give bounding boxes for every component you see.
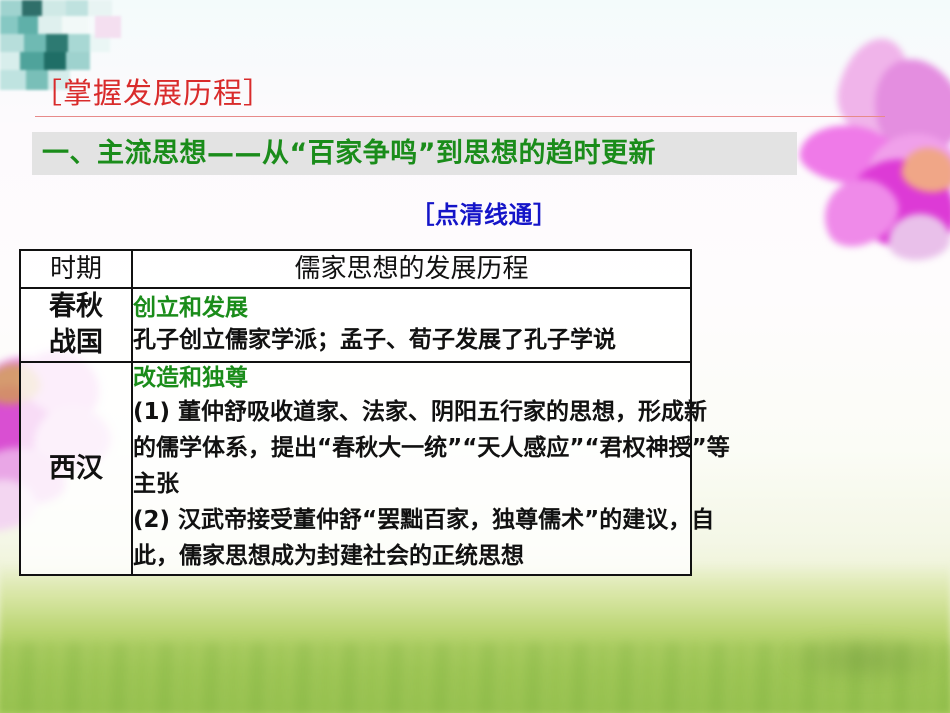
period-cell-western-han: 西汉: [20, 362, 132, 575]
header-development: 儒家思想的发展历程: [132, 250, 691, 288]
section-title: ［掌握发展历程］: [33, 76, 273, 110]
slide-canvas: ［掌握发展历程］ 一、主流思想——从“百家争鸣”到思想的趋时更新 ［点清线通］ …: [0, 0, 950, 713]
subtitle-text: ［点清线通］: [411, 201, 558, 229]
content-lead: 改造和独尊: [133, 363, 690, 394]
subtitle: ［点清线通］: [0, 199, 950, 231]
confucian-development-table: 时期 儒家思想的发展历程 春秋 战国 创立和发展 孔子创立儒家学派；孟子、荀子发…: [19, 249, 692, 576]
table-header-row: 时期 儒家思想的发展历程: [20, 250, 691, 288]
history-table-wrapper: 时期 儒家思想的发展历程 春秋 战国 创立和发展 孔子创立儒家学派；孟子、荀子发…: [19, 249, 692, 576]
period-line: 西汉: [21, 451, 131, 487]
content-line: 孔子创立儒家学派；孟子、荀子发展了孔子学说: [133, 324, 690, 357]
period-cell-spring-autumn: 春秋 战国: [20, 288, 132, 362]
content-line: 的儒学体系，提出“春秋大一统”“天人感应”“君权神授”等: [133, 430, 690, 466]
main-heading: 一、主流思想——从“百家争鸣”到思想的趋时更新: [42, 136, 656, 172]
content-line: (2) 汉武帝接受董仲舒“罢黜百家，独尊儒术”的建议，自: [133, 502, 690, 538]
header-period: 时期: [20, 250, 132, 288]
content-line: 主张: [133, 466, 690, 502]
content-line: 此，儒家思想成为封建社会的正统思想: [133, 538, 690, 574]
period-line: 战国: [21, 325, 131, 361]
flower-decoration-right-icon: [770, 30, 950, 280]
content-line: (1) 董仲舒吸收道家、法家、阴阳五行家的思想，形成新: [133, 394, 690, 430]
table-row: 春秋 战国 创立和发展 孔子创立儒家学派；孟子、荀子发展了孔子学说: [20, 288, 691, 362]
section-title-rule: [35, 116, 885, 117]
content-cell-spring-autumn: 创立和发展 孔子创立儒家学派；孟子、荀子发展了孔子学说: [132, 288, 691, 362]
background-grass-shadow: [780, 633, 950, 685]
content-lead: 创立和发展: [133, 293, 690, 324]
table-row: 西汉 改造和独尊 (1) 董仲舒吸收道家、法家、阴阳五行家的思想，形成新 的儒学…: [20, 362, 691, 575]
period-line: 春秋: [21, 289, 131, 325]
content-cell-western-han: 改造和独尊 (1) 董仲舒吸收道家、法家、阴阳五行家的思想，形成新 的儒学体系，…: [132, 362, 691, 575]
